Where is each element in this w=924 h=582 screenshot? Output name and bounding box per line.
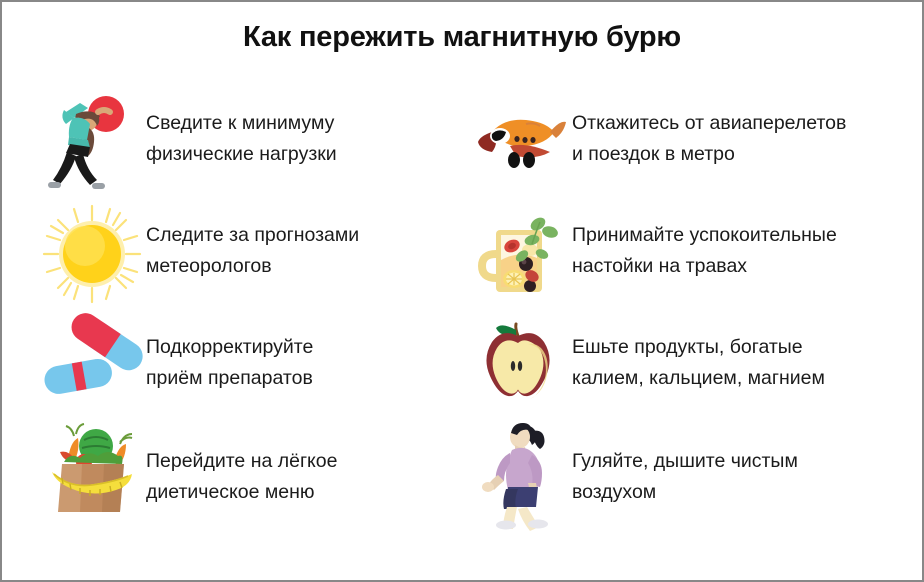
tip-adjust-medication-label: Подкорректируйте приём препаратов xyxy=(146,314,313,394)
pills-capsules-icon xyxy=(38,314,146,418)
grocery-bag-with-measuring-tape-icon xyxy=(38,420,146,524)
tip-walk-fresh-air-label: Гуляйте, дышите чистым воздухом xyxy=(572,420,798,508)
infographic-poster: Как пережить магнитную бурю xyxy=(0,0,924,582)
tip-weather-forecast: Следите за прогнозами метеорологов xyxy=(2,202,454,314)
tip-walk-fresh-air: Гуляйте, дышите чистым воздухом xyxy=(454,420,912,540)
tip-light-diet: Перейдите на лёгкое диетическое меню xyxy=(2,420,454,540)
tip-no-flights-label: Откажитесь от авиаперелетов и поездок в … xyxy=(572,90,846,170)
tip-adjust-medication: Подкорректируйте приём препаратов xyxy=(2,314,454,420)
apple-halved-icon xyxy=(464,314,572,418)
tip-weather-forecast-label: Следите за прогнозами метеорологов xyxy=(146,202,359,282)
tip-potassium-foods: Ешьте продукты, богатые калием, кальцием… xyxy=(454,314,912,420)
tip-exercise: Сведите к минимуму физические нагрузки xyxy=(2,90,454,202)
tip-no-flights: Откажитесь от авиаперелетов и поездок в … xyxy=(454,90,912,202)
herbal-drink-mug-icon xyxy=(464,202,572,306)
page-title: Как пережить магнитную бурю xyxy=(2,21,922,54)
tip-herbal-tea: Принимайте успокоительные настойки на тр… xyxy=(454,202,912,314)
walking-woman-icon xyxy=(464,420,572,524)
tip-exercise-label: Сведите к минимуму физические нагрузки xyxy=(146,90,337,170)
sun-icon xyxy=(38,202,146,306)
tips-grid: Сведите к минимуму физические нагрузки xyxy=(2,90,922,540)
tip-light-diet-label: Перейдите на лёгкое диетическое меню xyxy=(146,420,338,508)
airplane-icon xyxy=(464,90,572,194)
tip-herbal-tea-label: Принимайте успокоительные настойки на тр… xyxy=(572,202,837,282)
woman-with-exercise-ball-icon xyxy=(38,90,146,194)
tip-potassium-foods-label: Ешьте продукты, богатые калием, кальцием… xyxy=(572,314,825,394)
